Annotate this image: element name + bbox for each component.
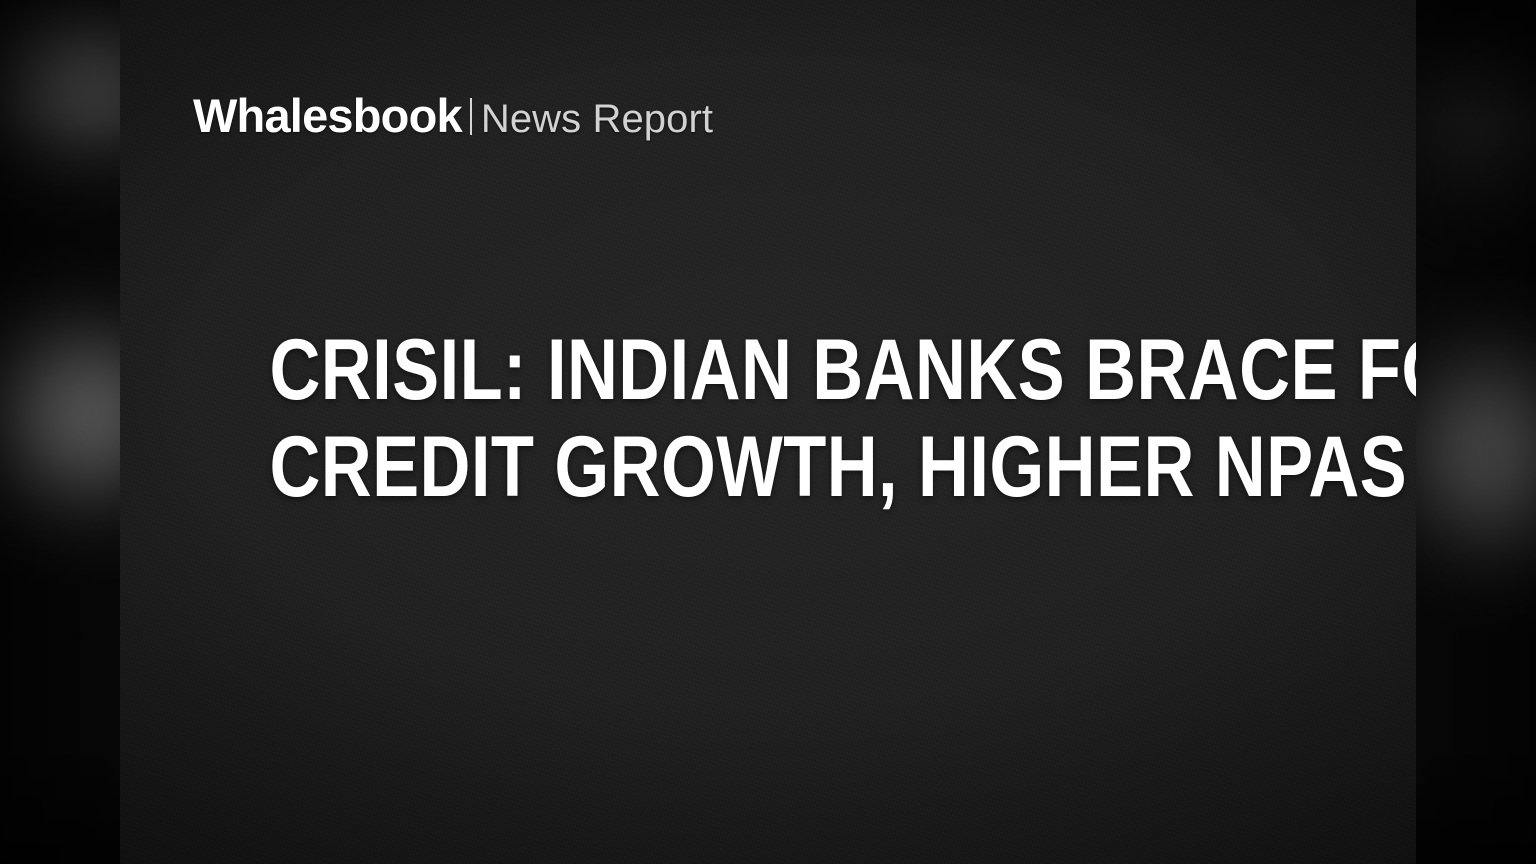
news-card-screenshot: Whalesbook News Report CRISIL: INDIAN BA…: [0, 0, 1536, 864]
brand-lockup: Whalesbook News Report: [193, 92, 713, 139]
headline: CRISIL: INDIAN BANKS BRACE FOR SLOWER CR…: [120, 322, 1416, 516]
headline-line-1: CRISIL: INDIAN BANKS BRACE FOR SLOWER: [269, 322, 1266, 419]
brand-divider: [470, 98, 472, 135]
brand-subtitle: News Report: [481, 99, 713, 139]
headline-line-2: CREDIT GROWTH, HIGHER NPAS: [269, 419, 1266, 516]
brand-name: Whalesbook: [193, 92, 462, 139]
news-card-panel: Whalesbook News Report CRISIL: INDIAN BA…: [120, 0, 1416, 864]
